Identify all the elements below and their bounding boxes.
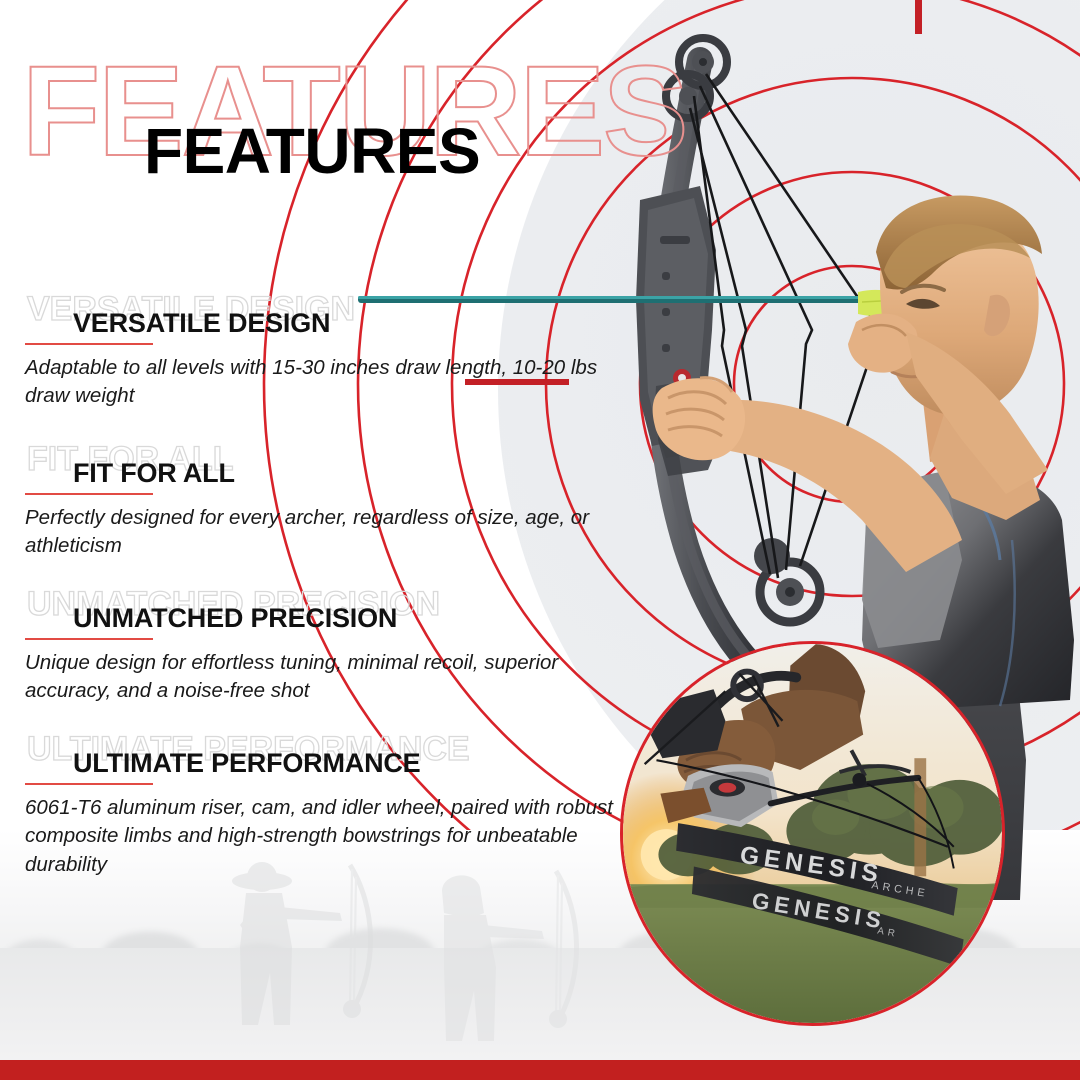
feature-item-versatile-design: VERSATILE DESIGN VERSATILE DESIGN Adapta… xyxy=(0,292,640,342)
feature-title: ULTIMATE PERFORMANCE xyxy=(73,750,420,777)
feature-title: FIT FOR ALL xyxy=(73,460,235,487)
feature-description: Unique design for effortless tuning, min… xyxy=(25,649,615,706)
page-title: FEATURES FEATURES xyxy=(0,0,760,210)
feature-item-fit-for-all: FIT FOR ALL FIT FOR ALL Perfectly design… xyxy=(0,442,640,492)
feature-poster: GENESIS ARCHE GENESIS AR FEATURES FEATUR… xyxy=(0,0,1080,1080)
feature-item-unmatched-precision: UNMATCHED PRECISION UNMATCHED PRECISION … xyxy=(0,587,640,637)
feature-description: 6061-T6 aluminum riser, cam, and idler w… xyxy=(25,794,615,879)
crosshair-tick-top xyxy=(915,0,922,34)
feature-underline-rule xyxy=(25,493,153,495)
feature-description: Perfectly designed for every archer, reg… xyxy=(25,504,615,561)
archer-silhouette-right xyxy=(400,855,640,1060)
inset-photo: GENESIS ARCHE GENESIS AR xyxy=(623,644,1002,1023)
feature-underline-rule xyxy=(25,638,153,640)
feature-heading: ULTIMATE PERFORMANCE ULTIMATE PERFORMANC… xyxy=(0,732,640,782)
feature-title: VERSATILE DESIGN xyxy=(73,310,330,337)
feature-underline-rule xyxy=(25,343,153,345)
page-title-solid: FEATURES xyxy=(144,119,480,183)
feature-heading: VERSATILE DESIGN VERSATILE DESIGN xyxy=(0,292,640,342)
bottom-accent-bar xyxy=(0,1060,1080,1080)
feature-item-ultimate-performance: ULTIMATE PERFORMANCE ULTIMATE PERFORMANC… xyxy=(0,732,640,782)
archer-silhouette-left xyxy=(200,855,430,1055)
feature-underline-rule xyxy=(25,783,153,785)
feature-heading: UNMATCHED PRECISION UNMATCHED PRECISION xyxy=(0,587,640,637)
product-inset-circle: GENESIS ARCHE GENESIS AR xyxy=(620,641,1005,1026)
feature-description: Adaptable to all levels with 15-30 inche… xyxy=(25,354,615,411)
feature-heading: FIT FOR ALL FIT FOR ALL xyxy=(0,442,640,492)
feature-title: UNMATCHED PRECISION xyxy=(73,605,397,632)
